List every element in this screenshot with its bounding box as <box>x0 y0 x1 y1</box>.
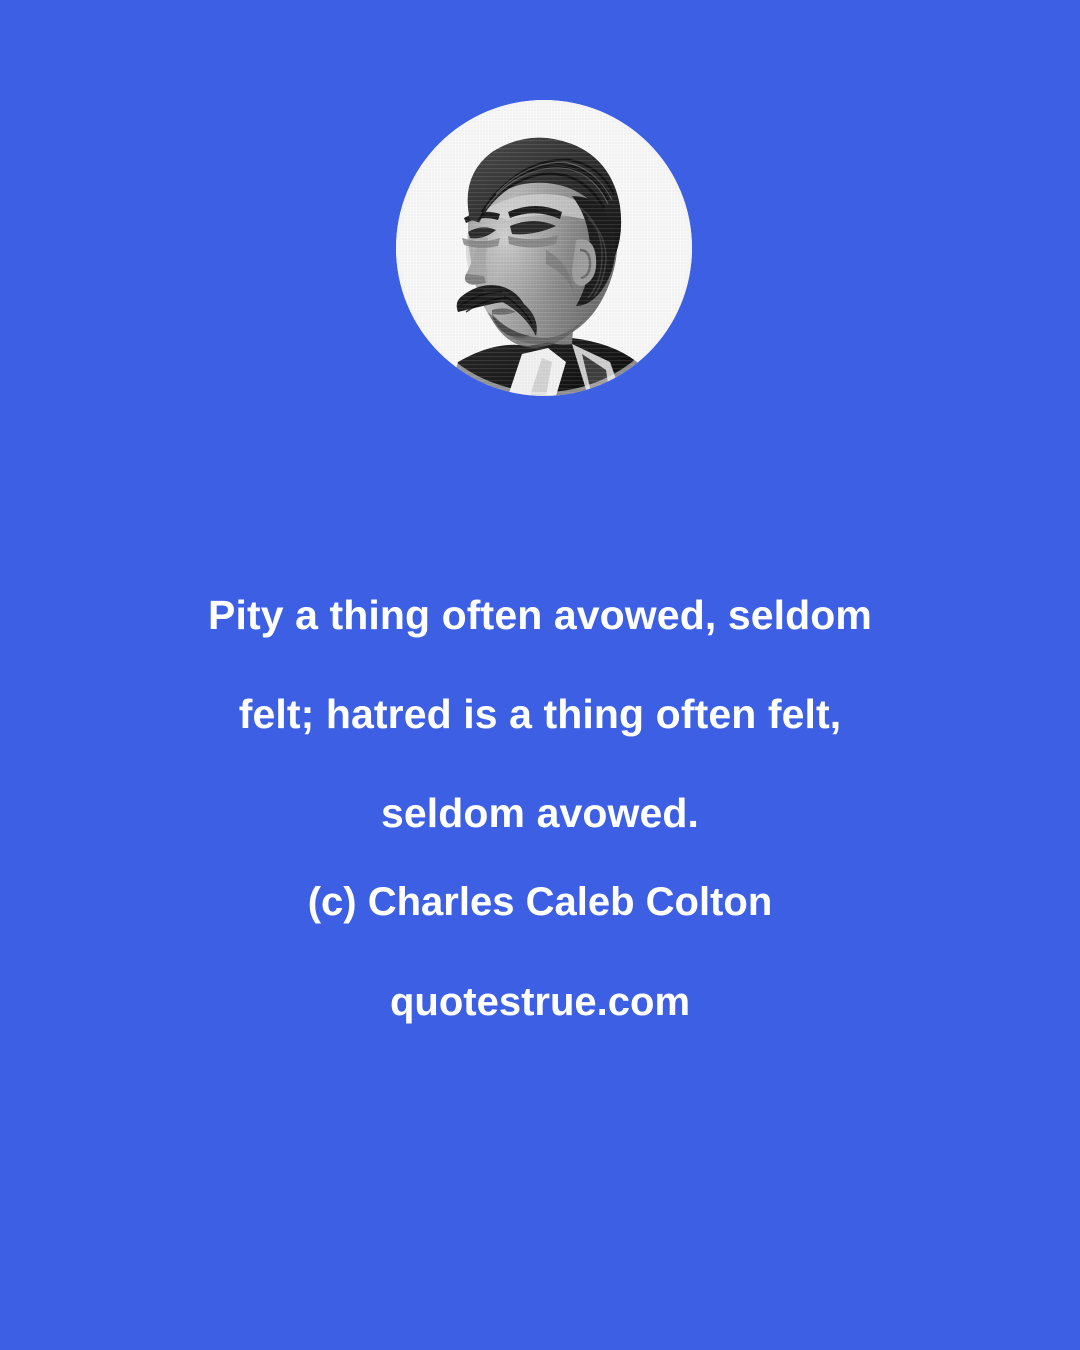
portrait-illustration <box>396 100 692 396</box>
quote-text: Pity a thing often avowed, seldom felt; … <box>0 566 1080 863</box>
quote-line-3: seldom avowed. <box>0 764 1080 863</box>
source-website[interactable]: quotestrue.com <box>0 976 1080 1028</box>
quote-card: Pity a thing often avowed, seldom felt; … <box>0 0 1080 1350</box>
author-attribution: (c) Charles Caleb Colton <box>0 876 1080 928</box>
quote-line-2: felt; hatred is a thing often felt, <box>0 665 1080 764</box>
author-portrait <box>396 100 692 396</box>
quote-line-1: Pity a thing often avowed, seldom <box>0 566 1080 665</box>
